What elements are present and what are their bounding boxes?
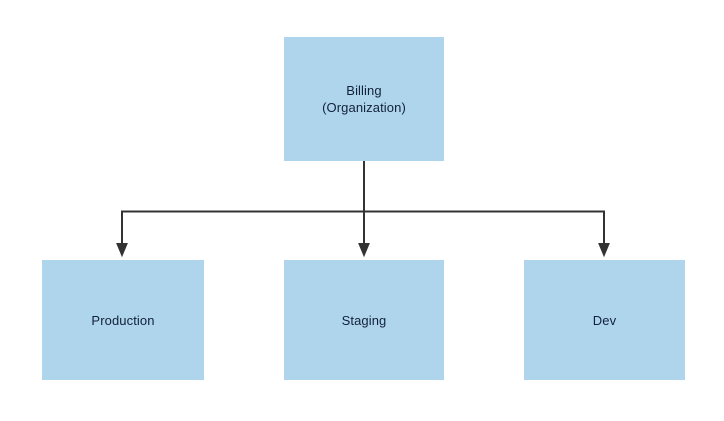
node-dev-label: Dev	[593, 312, 616, 329]
node-production[interactable]: Production	[42, 260, 204, 380]
node-billing-label: Billing (Organization)	[322, 82, 406, 116]
node-staging-label: Staging	[342, 312, 387, 329]
node-billing-organization[interactable]: Billing (Organization)	[284, 37, 444, 161]
diagram-canvas: Billing (Organization) Production Stagin…	[0, 0, 724, 421]
node-production-label: Production	[91, 312, 154, 329]
node-dev[interactable]: Dev	[524, 260, 685, 380]
node-staging[interactable]: Staging	[284, 260, 444, 380]
